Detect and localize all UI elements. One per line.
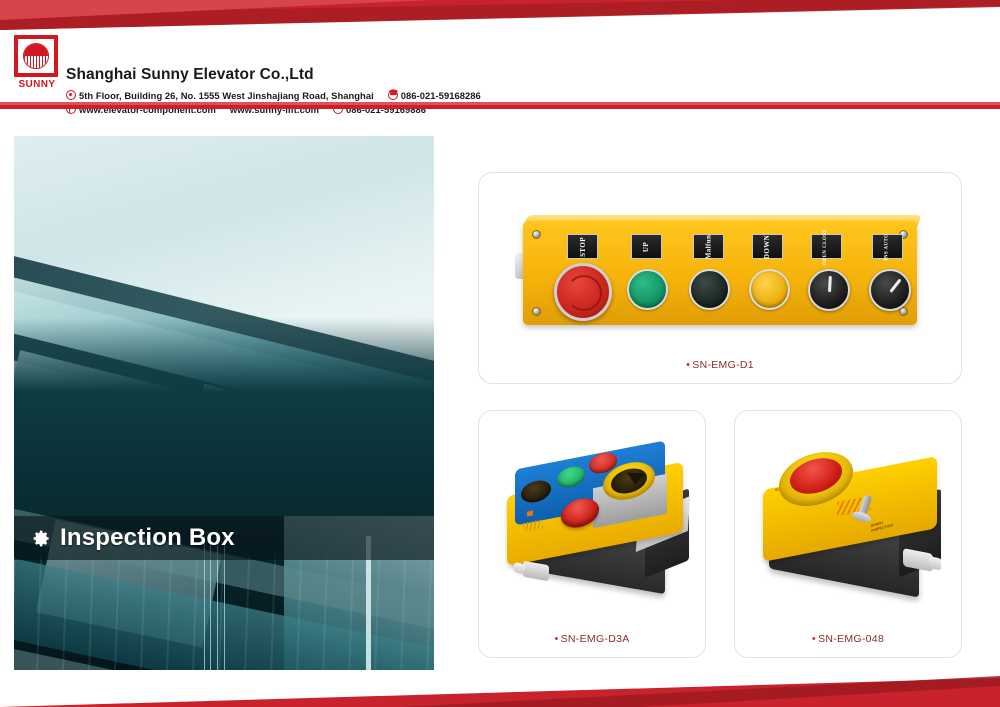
- location-pin-icon: [66, 90, 76, 100]
- logo-wordmark: SUNNY: [13, 79, 61, 90]
- top-red-banner: [0, 0, 1000, 30]
- product-caption-sn-emg-048: •SN-EMG-048: [735, 633, 961, 645]
- d1-open-close-selector[interactable]: [808, 269, 850, 311]
- product-card-sn-emg-d1[interactable]: STOP UP Malfun DOWN OPEN CLOSE INS AUTO: [478, 172, 962, 384]
- phone-icon: [388, 90, 398, 100]
- caption-text: SN-EMG-D3A: [561, 633, 630, 645]
- d1-label-malfunction: Malfun: [693, 234, 724, 259]
- header-divider: [0, 102, 1000, 109]
- caption-text: SN-EMG-048: [818, 633, 884, 645]
- bottom-red-banner: [0, 672, 1000, 707]
- d1-label-up: UP: [631, 234, 662, 259]
- product-card-sn-emg-048[interactable]: SUNNY SUNNYINSPECTION •SN-EMG-048: [734, 410, 962, 658]
- product-image-sn-emg-d1: STOP UP Malfun DOWN OPEN CLOSE INS AUTO: [515, 213, 923, 331]
- d1-open-close-pointer: [828, 276, 832, 292]
- catalog-page: SUNNY Shanghai Sunny Elevator Co.,Ltd 5t…: [0, 0, 1000, 707]
- company-phone: 086-021-59168286: [401, 90, 481, 101]
- d1-ins-auto-pointer: [889, 278, 901, 292]
- caption-text: SN-EMG-D1: [692, 359, 754, 371]
- d1-screw-tl: [532, 230, 541, 239]
- hero-title-text: Inspection Box: [60, 524, 235, 552]
- d3a-selector-well: [611, 466, 647, 497]
- product-card-sn-emg-d3a[interactable]: ▬▬▬▬▬▬▬▬▬▬▬▬▬▬▬▬▬▬▬▬▬▬▬▬▬▬▬ •SN-EMG-D3A: [478, 410, 706, 658]
- product-caption-sn-emg-d3a: •SN-EMG-D3A: [479, 633, 705, 645]
- gear-icon: [32, 529, 51, 548]
- contact-line-address: 5th Floor, Building 26, No. 1555 West Ji…: [66, 90, 481, 101]
- d1-estop-twist-arrow: [566, 275, 602, 311]
- company-address: 5th Floor, Building 26, No. 1555 West Ji…: [79, 90, 374, 101]
- product-image-sn-emg-d3a: ▬▬▬▬▬▬▬▬▬▬▬▬▬▬▬▬▬▬▬▬▬▬▬▬▬▬▬: [495, 445, 691, 605]
- d1-label-stop: STOP: [567, 234, 598, 259]
- d048-emergency-stop-button[interactable]: [790, 454, 842, 498]
- page-title: Shanghai Sunny Elevator Co.,Ltd: [66, 66, 314, 84]
- hero-title: Inspection Box: [32, 524, 235, 552]
- d1-down-button[interactable]: [749, 269, 790, 310]
- d1-emergency-stop-button[interactable]: [554, 263, 612, 321]
- d1-screw-bl: [532, 307, 541, 316]
- d1-up-button[interactable]: [627, 269, 668, 310]
- product-image-sn-emg-048: SUNNY SUNNYINSPECTION: [753, 447, 947, 607]
- d3a-cable-gland: [523, 561, 549, 582]
- d1-enclosure: STOP UP Malfun DOWN OPEN CLOSE INS AUTO: [523, 221, 917, 325]
- d1-ins-auto-selector[interactable]: [869, 269, 911, 311]
- hero-image: Inspection Box: [14, 136, 434, 670]
- d1-label-ins-auto: INS AUTO: [872, 234, 903, 259]
- d1-screw-br: [899, 307, 908, 316]
- caption-bullet: •: [554, 633, 558, 645]
- d1-label-down: DOWN: [752, 234, 783, 259]
- caption-bullet: •: [686, 359, 690, 371]
- caption-bullet: •: [812, 633, 816, 645]
- d3a-selector-knob[interactable]: [627, 469, 645, 486]
- page-header: SUNNY Shanghai Sunny Elevator Co.,Ltd 5t…: [0, 30, 1000, 102]
- company-logo: SUNNY: [14, 35, 60, 95]
- d1-label-open-close: OPEN CLOSE: [811, 234, 842, 259]
- d1-malfunction-button[interactable]: [689, 269, 730, 310]
- sun-icon: [23, 43, 49, 69]
- sunny-logo-mark: [14, 35, 58, 77]
- product-caption-sn-emg-d1: •SN-EMG-D1: [479, 359, 961, 371]
